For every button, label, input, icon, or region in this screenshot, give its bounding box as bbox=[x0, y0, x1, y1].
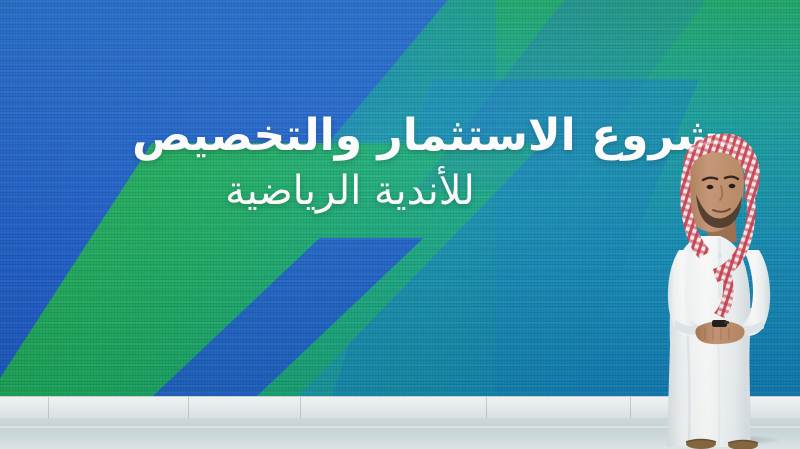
presenter-illustration bbox=[655, 132, 800, 449]
thobe-button bbox=[718, 254, 721, 257]
presenter-figure bbox=[655, 132, 800, 449]
presenter-eye bbox=[707, 185, 714, 189]
slide-headline-line2: للأندية الرياضية bbox=[0, 166, 700, 217]
slide-headline: مشروع الاستثمار والتخصيص للأندية الرياضي… bbox=[0, 112, 760, 217]
clicker-button bbox=[724, 321, 729, 324]
presentation-scene: مشروع الاستثمار والتخصيص للأندية الرياضي… bbox=[0, 0, 800, 449]
stage-panel-seam bbox=[188, 397, 189, 419]
stage-panel-seam bbox=[486, 397, 487, 419]
stage-panel-seam bbox=[48, 397, 49, 419]
stage-panel-seam bbox=[630, 397, 631, 419]
presenter-eye bbox=[729, 184, 736, 188]
stage-panel-seam bbox=[300, 397, 301, 419]
